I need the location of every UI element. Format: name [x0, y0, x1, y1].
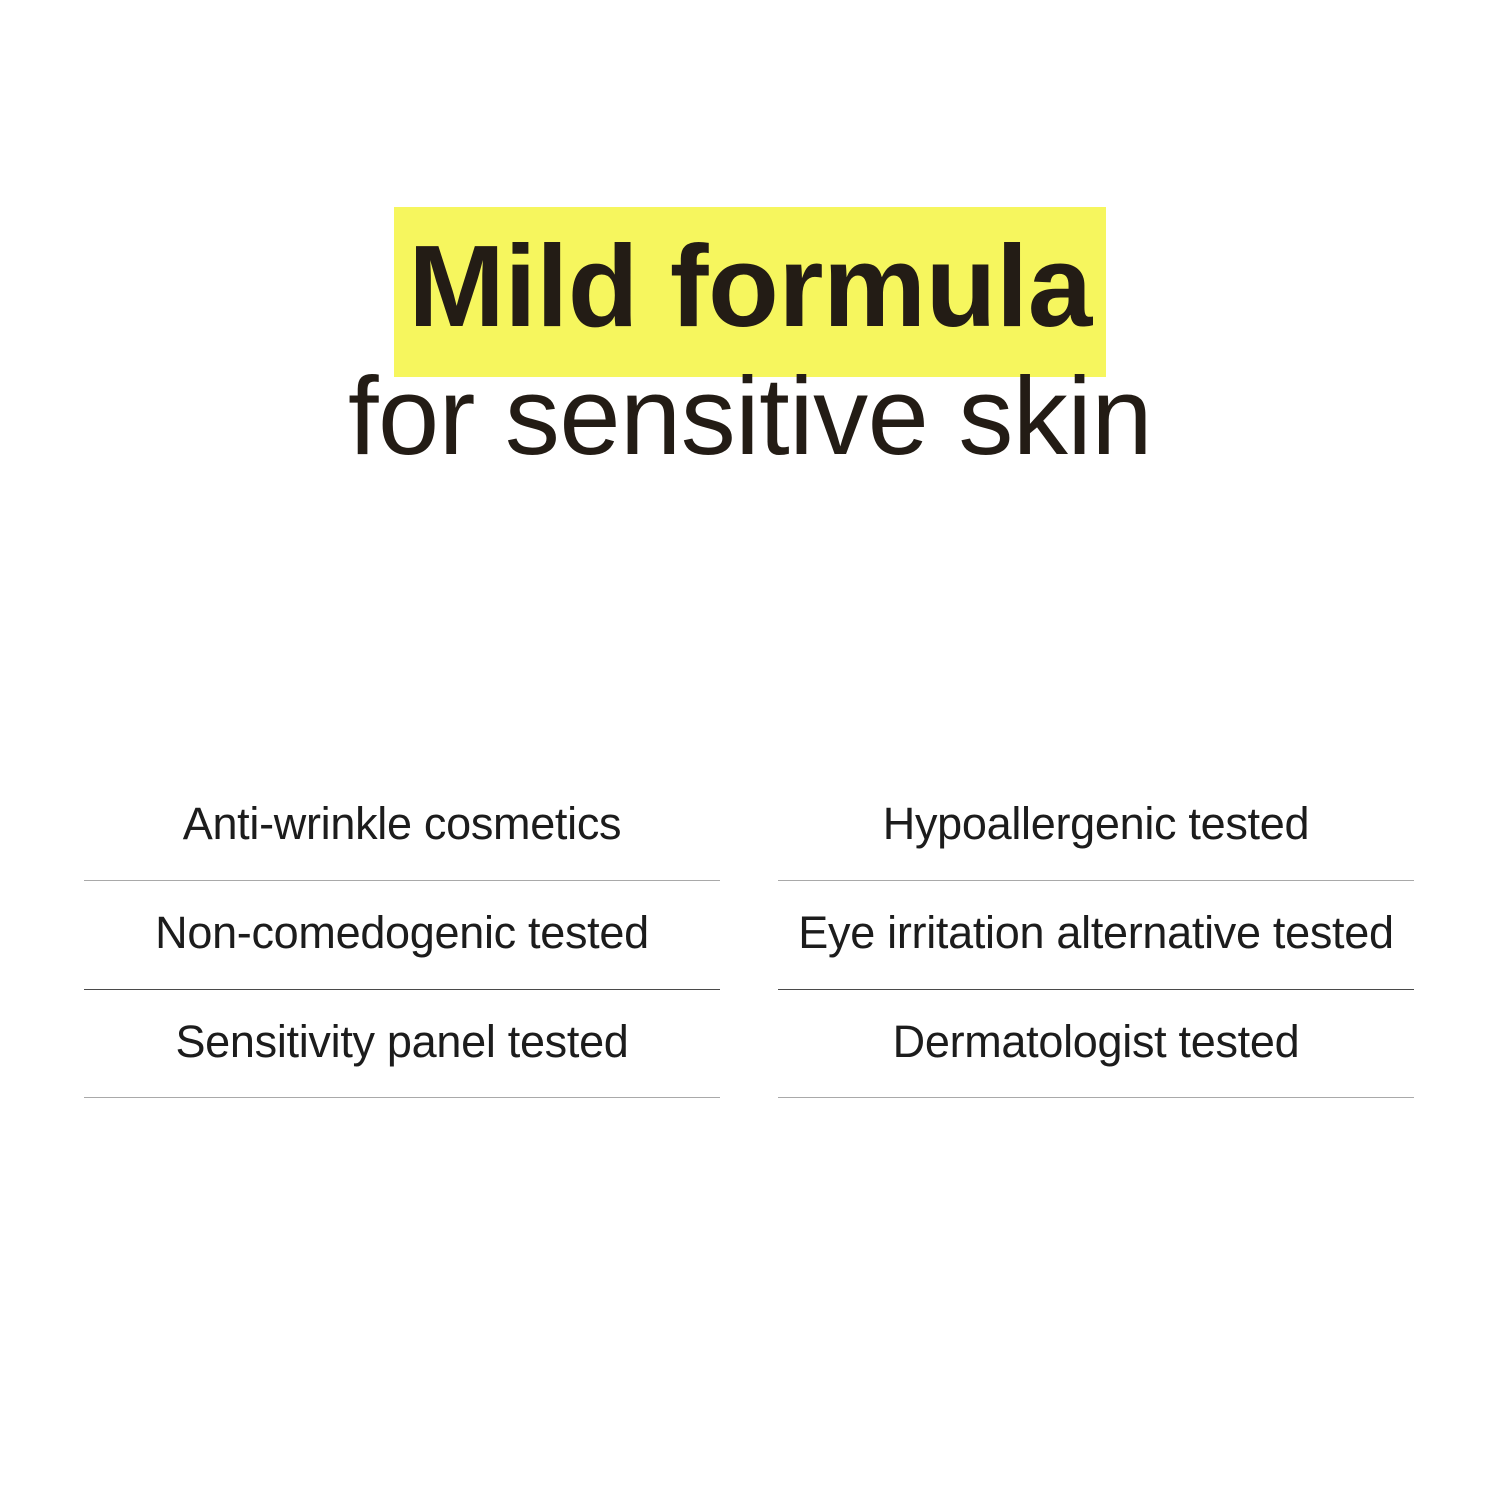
claim-divider — [84, 1097, 720, 1098]
headline-highlight: Mild formula — [394, 207, 1106, 377]
product-claims-page: Mild formula for sensitive skin Anti-wri… — [0, 0, 1500, 1500]
claim-item-left-2: Non-comedogenic tested — [84, 881, 720, 990]
headline-line-2: for sensitive skin — [0, 362, 1500, 472]
column-gap — [720, 881, 778, 990]
column-gap — [720, 772, 778, 881]
claims-grid: Anti-wrinkle cosmetics Hypoallergenic te… — [84, 772, 1414, 1098]
claim-label: Eye irritation alternative tested — [778, 881, 1414, 989]
claim-divider — [778, 1097, 1414, 1098]
headline-block: Mild formula for sensitive skin — [0, 228, 1500, 472]
headline-line-1: Mild formula — [0, 228, 1500, 344]
claim-item-right-3: Dermatologist tested — [778, 990, 1414, 1099]
claim-item-left-1: Anti-wrinkle cosmetics — [84, 772, 720, 881]
claim-item-right-1: Hypoallergenic tested — [778, 772, 1414, 881]
claim-label: Anti-wrinkle cosmetics — [84, 772, 720, 880]
claim-label: Non-comedogenic tested — [84, 881, 720, 989]
column-gap — [720, 990, 778, 1099]
claim-label: Sensitivity panel tested — [84, 990, 720, 1098]
claim-item-right-2: Eye irritation alternative tested — [778, 881, 1414, 990]
claim-item-left-3: Sensitivity panel tested — [84, 990, 720, 1099]
claim-label: Hypoallergenic tested — [778, 772, 1414, 880]
claim-label: Dermatologist tested — [778, 990, 1414, 1098]
